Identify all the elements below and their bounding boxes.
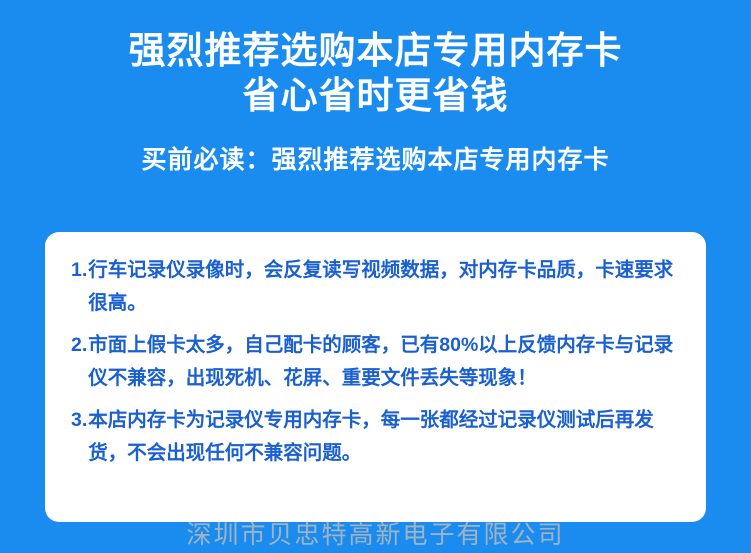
- list-item-text: 市面上假卡太多，自己配卡的顾客，已有80%以上反馈内存卡与记录仪不兼容，出现死机…: [88, 329, 680, 395]
- subheadline: 买前必读：强烈推荐选购本店专用内存卡: [0, 140, 751, 176]
- list-item-text: 本店内存卡为记录仪专用内存卡，每一张都经过记录仪测试后再发货，不会出现任何不兼容…: [88, 404, 680, 470]
- company-watermark: 深圳市贝忠特高新电子有限公司: [0, 515, 751, 551]
- headline-line-1: 强烈推荐选购本店专用内存卡: [129, 30, 623, 71]
- headline: 强烈推荐选购本店专用内存卡 省心省时更省钱: [0, 0, 751, 118]
- list-item-number: 3.: [71, 404, 88, 470]
- promo-page: 强烈推荐选购本店专用内存卡 省心省时更省钱 买前必读：强烈推荐选购本店专用内存卡…: [0, 0, 751, 553]
- list-item: 2. 市面上假卡太多，自己配卡的顾客，已有80%以上反馈内存卡与记录仪不兼容，出…: [71, 329, 680, 395]
- list-item-number: 2.: [71, 329, 88, 395]
- headline-line-2: 省心省时更省钱: [0, 73, 751, 118]
- list-item: 3. 本店内存卡为记录仪专用内存卡，每一张都经过记录仪测试后再发货，不会出现任何…: [71, 404, 680, 470]
- list-item: 1. 行车记录仪录像时，会反复读写视频数据，对内存卡品质，卡速要求很高。: [71, 254, 680, 320]
- list-item-number: 1.: [71, 254, 88, 320]
- notice-card: 1. 行车记录仪录像时，会反复读写视频数据，对内存卡品质，卡速要求很高。 2. …: [45, 232, 706, 522]
- list-item-text: 行车记录仪录像时，会反复读写视频数据，对内存卡品质，卡速要求很高。: [88, 254, 680, 320]
